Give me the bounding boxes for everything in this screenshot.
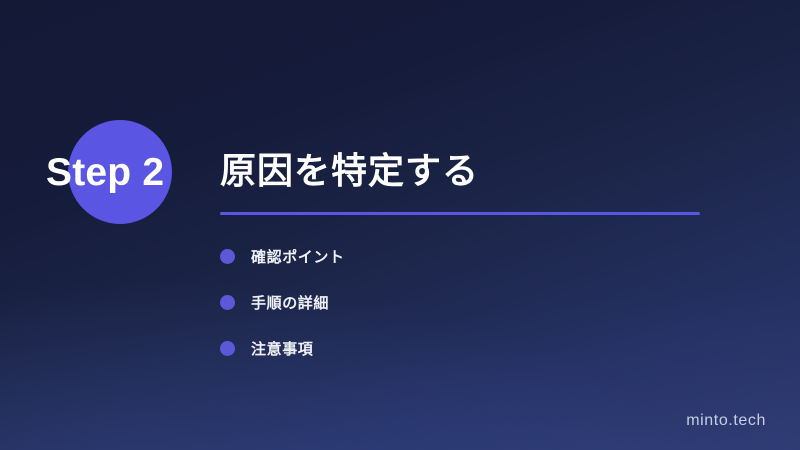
list-item: 注意事項 <box>220 325 700 371</box>
title-divider <box>220 212 700 215</box>
list-item-label: 注意事項 <box>251 338 313 359</box>
footer-brand: minto.tech <box>686 412 766 430</box>
slide-canvas: Step 2 原因を特定する 確認ポイント 手順の詳細 注意事項 minto.t… <box>0 0 800 450</box>
list-item-label: 確認ポイント <box>251 246 345 267</box>
list-item: 手順の詳細 <box>220 279 700 325</box>
list-item-label: 手順の詳細 <box>251 292 329 313</box>
bullet-dot-icon <box>220 341 235 356</box>
bullet-list: 確認ポイント 手順の詳細 注意事項 <box>220 233 700 371</box>
slide-title: 原因を特定する <box>220 148 479 194</box>
bullet-dot-icon <box>220 295 235 310</box>
bullet-dot-icon <box>220 249 235 264</box>
list-item: 確認ポイント <box>220 233 700 279</box>
background-gradient-wash <box>0 0 800 450</box>
